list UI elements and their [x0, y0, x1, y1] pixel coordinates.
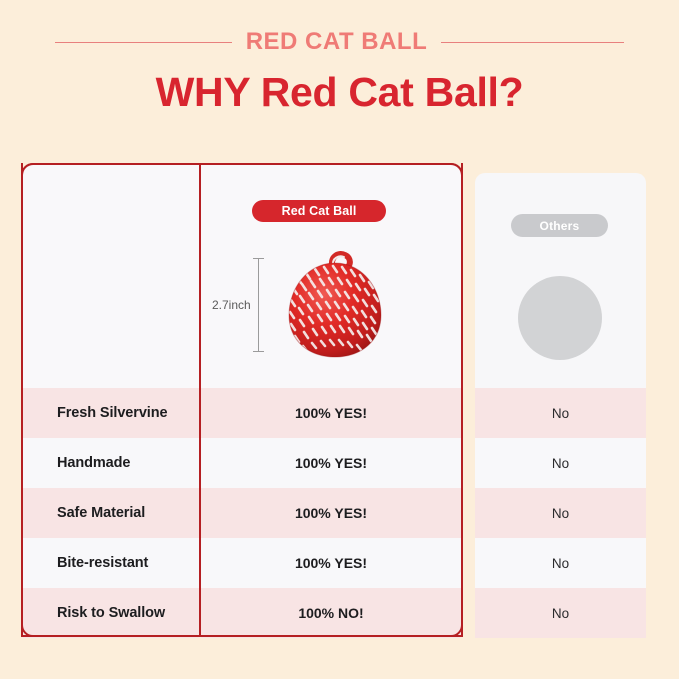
feature-label: Bite-resistant — [57, 538, 148, 588]
product-value: 100% YES! — [201, 388, 461, 438]
page-title: WHY Red Cat Ball? — [0, 70, 679, 115]
yarn-ball-icon — [275, 247, 395, 367]
feature-label: Fresh Silvervine — [57, 388, 167, 438]
product-column-badge: Red Cat Ball — [252, 200, 386, 222]
others-value: No — [475, 438, 646, 488]
page-header: RED CAT BALL WHY Red Cat Ball? — [0, 0, 679, 150]
product-value: 100% NO! — [201, 588, 461, 638]
eyebrow-rule-right — [441, 42, 624, 43]
product-value: 100% YES! — [201, 488, 461, 538]
product-panel-border-bottom — [21, 635, 463, 637]
brand-eyebrow-row: RED CAT BALL — [0, 27, 679, 57]
others-product-placeholder-icon — [518, 276, 602, 360]
dimension-label: 2.7inch — [209, 296, 254, 314]
table-row: Safe Material 100% YES! No — [0, 488, 679, 538]
table-row: Fresh Silvervine 100% YES! No — [0, 388, 679, 438]
dimension-cap-bottom — [253, 351, 264, 352]
product-panel-border-left — [21, 163, 23, 637]
eyebrow-rule-left — [55, 42, 232, 43]
product-value: 100% YES! — [201, 538, 461, 588]
others-value: No — [475, 588, 646, 638]
others-value: No — [475, 488, 646, 538]
dimension-cap-top — [253, 258, 264, 259]
comparison-table: Fresh Silvervine 100% YES! No Handmade 1… — [0, 388, 679, 638]
feature-label: Risk to Swallow — [57, 588, 165, 638]
product-image-red-cat-ball — [275, 247, 395, 367]
product-panel-border-right — [461, 163, 463, 637]
others-column-badge: Others — [511, 214, 608, 237]
feature-label: Handmade — [57, 438, 130, 488]
brand-eyebrow-label: RED CAT BALL — [246, 30, 428, 54]
table-row: Bite-resistant 100% YES! No — [0, 538, 679, 588]
table-row: Risk to Swallow 100% NO! No — [0, 588, 679, 638]
product-value: 100% YES! — [201, 438, 461, 488]
dimension-line — [258, 258, 259, 352]
feature-label: Safe Material — [57, 488, 145, 538]
table-row: Handmade 100% YES! No — [0, 438, 679, 488]
others-value: No — [475, 388, 646, 438]
others-value: No — [475, 538, 646, 588]
dimension-indicator: 2.7inch — [258, 258, 260, 352]
comparison-section: Others Red Cat Ball 2.7inch — [0, 163, 679, 638]
column-divider-overlay — [199, 163, 201, 637]
